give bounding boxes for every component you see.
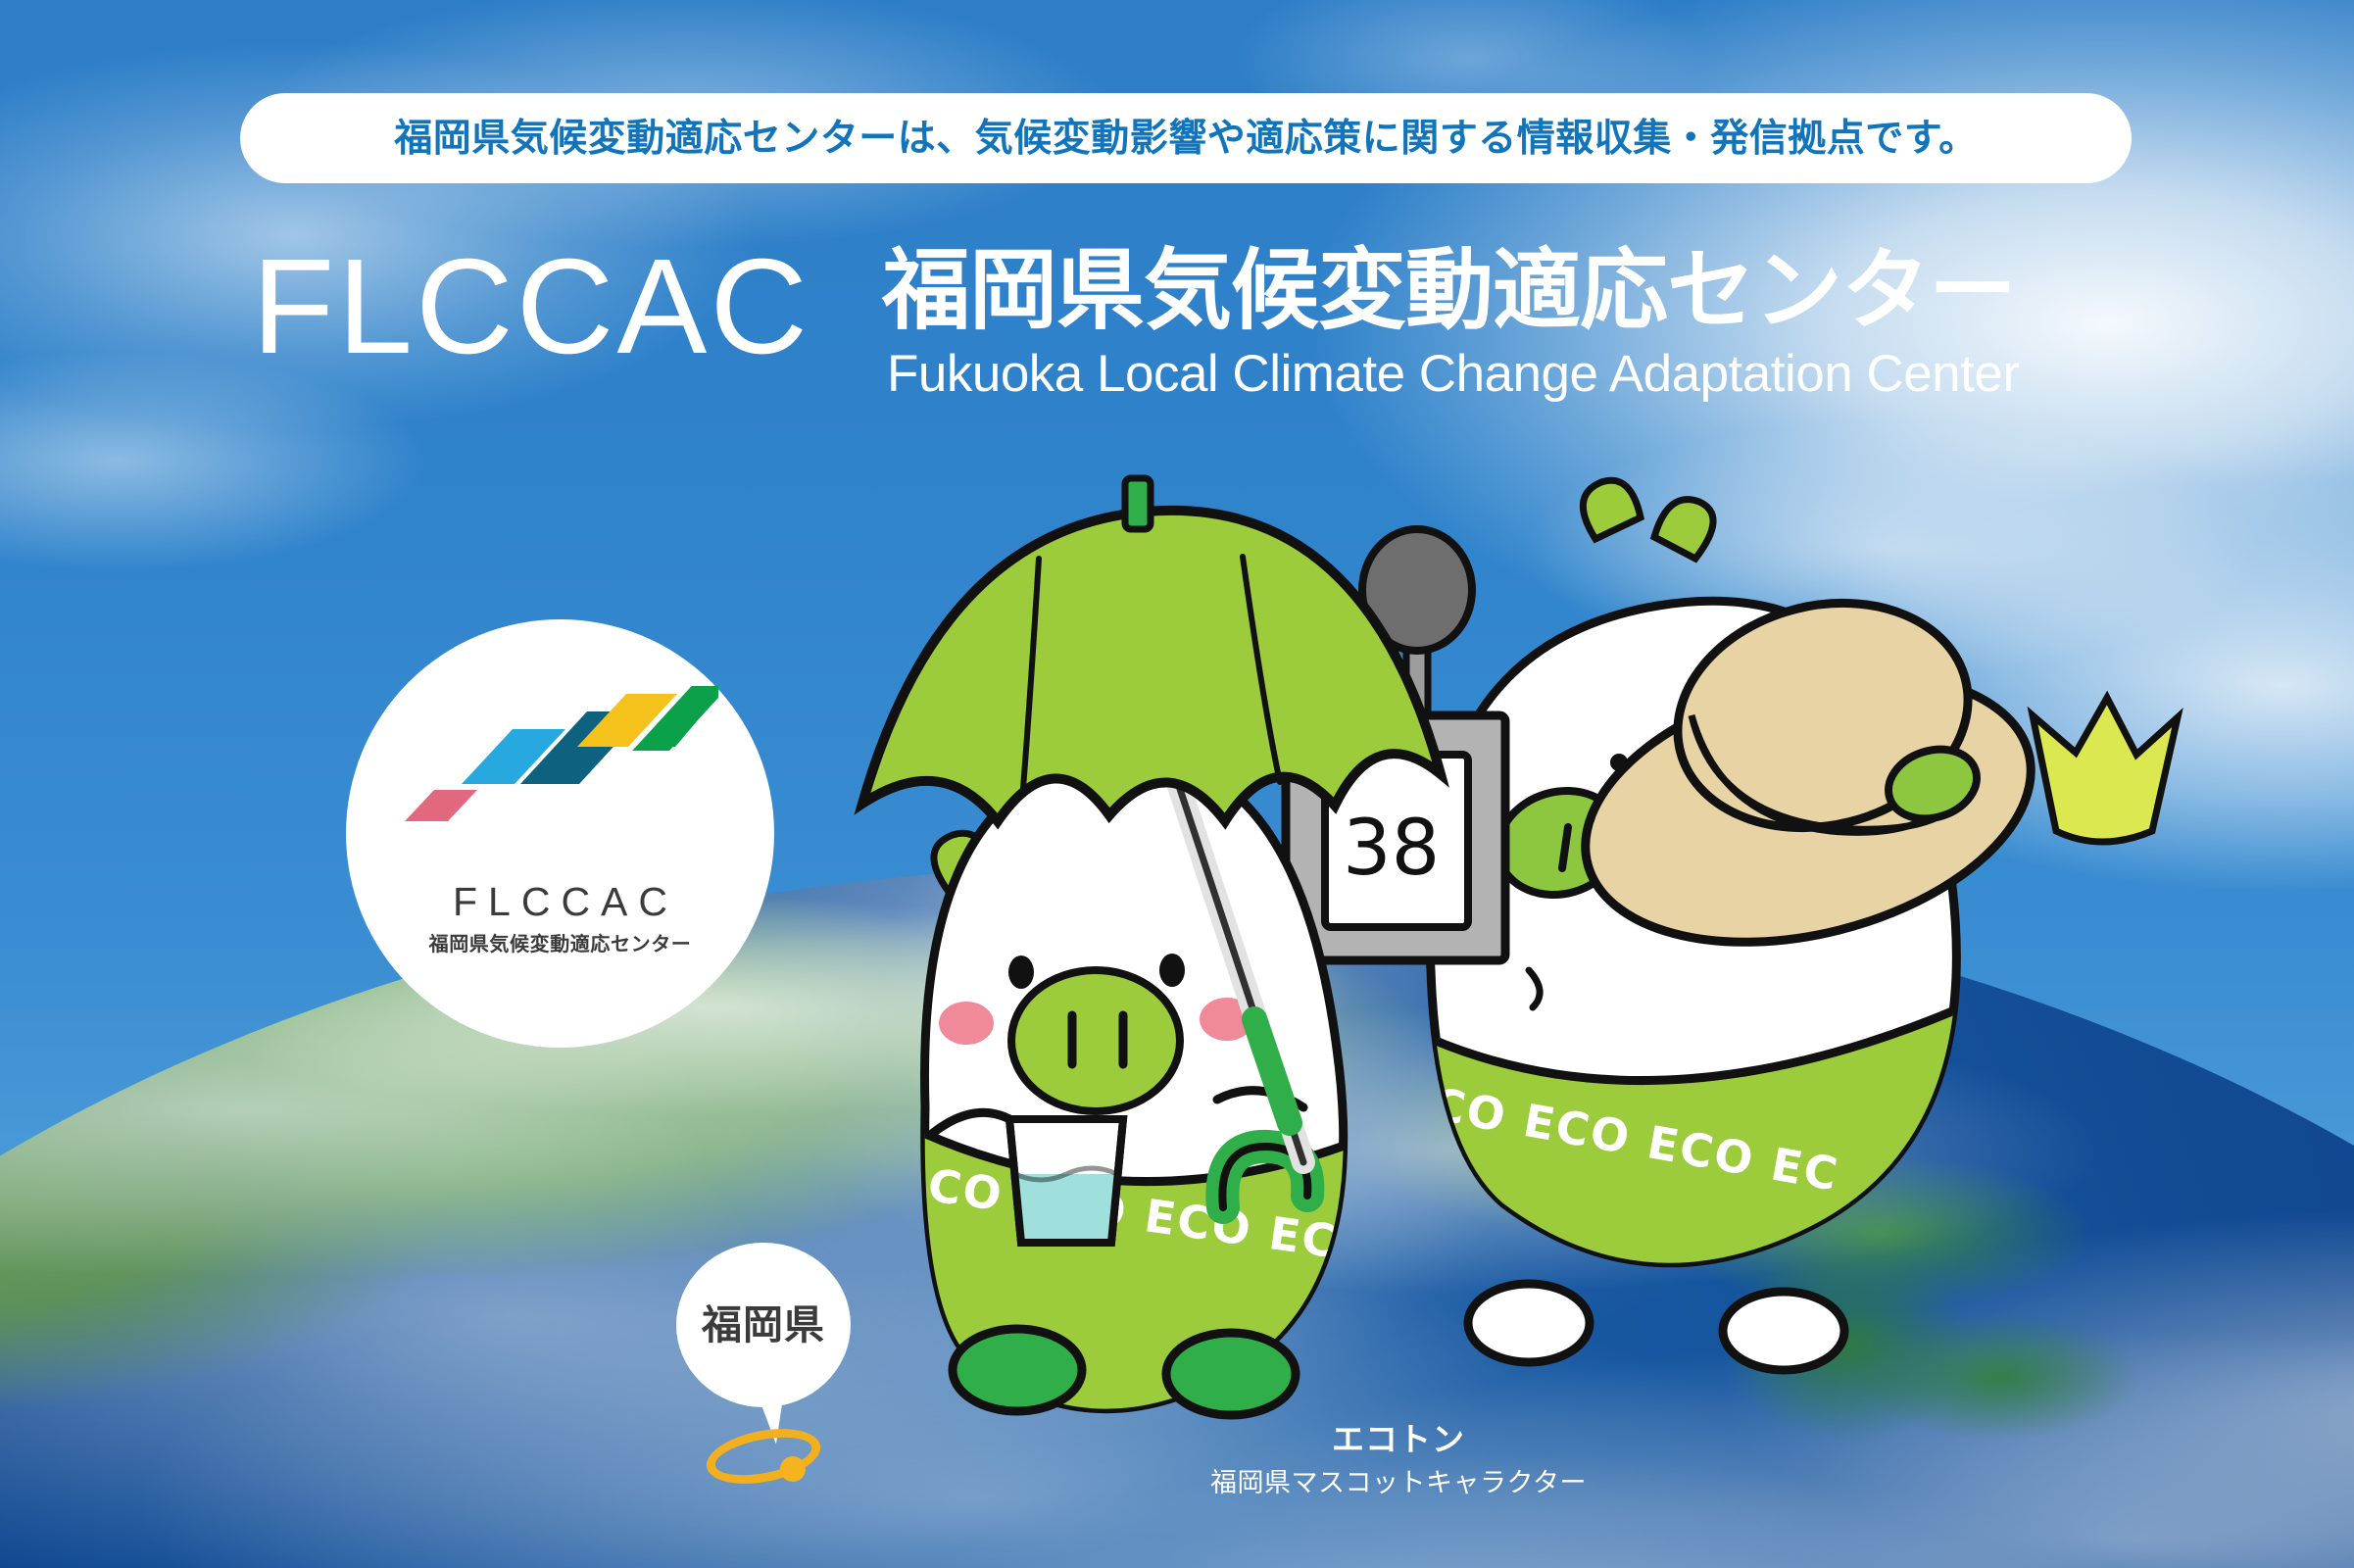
mascot-illustration: ECO ECO ECO EC bbox=[843, 421, 2097, 1460]
fukuoka-callout-bubble: 福岡県 bbox=[676, 1243, 851, 1407]
callout-label: 福岡県 bbox=[702, 1305, 825, 1346]
logo-badge-name: FLCCAC bbox=[346, 882, 774, 922]
fukuoka-marker-dot-icon bbox=[780, 1456, 806, 1482]
umbrella-icon bbox=[862, 478, 1441, 821]
flccac-logo-mark-icon bbox=[405, 686, 718, 862]
logo-badge-subtitle: 福岡県気候変動適応センター bbox=[346, 935, 774, 955]
mascot-caption-name: エコトン bbox=[1237, 1423, 1560, 1455]
tagline-text: 福岡県気候変動適応センターは、気候変動影響や適応策に関する情報収集・発信拠点です… bbox=[394, 120, 1978, 158]
temperature-reading: 38 bbox=[1343, 805, 1440, 893]
page-title-acronym: FLCCAC bbox=[252, 239, 810, 374]
page-title-english: Fukuoka Local Climate Change Adaptation … bbox=[887, 348, 2020, 400]
flccac-logo-badge: FLCCAC 福岡県気候変動適応センター bbox=[346, 619, 774, 1048]
poster-stage: 福岡県気候変動適応センターは、気候変動影響や適応策に関する情報収集・発信拠点です… bbox=[0, 0, 2354, 1568]
page-title-japanese: 福岡県気候変動適応センター bbox=[882, 247, 2016, 335]
callout-body: 福岡県 bbox=[676, 1243, 851, 1407]
tagline-banner: 福岡県気候変動適応センターは、気候変動影響や適応策に関する情報収集・発信拠点です… bbox=[240, 93, 2132, 183]
mascot-caption-role: 福岡県マスコットキャラクター bbox=[1188, 1470, 1609, 1496]
drink-cup-icon bbox=[1009, 1119, 1123, 1243]
